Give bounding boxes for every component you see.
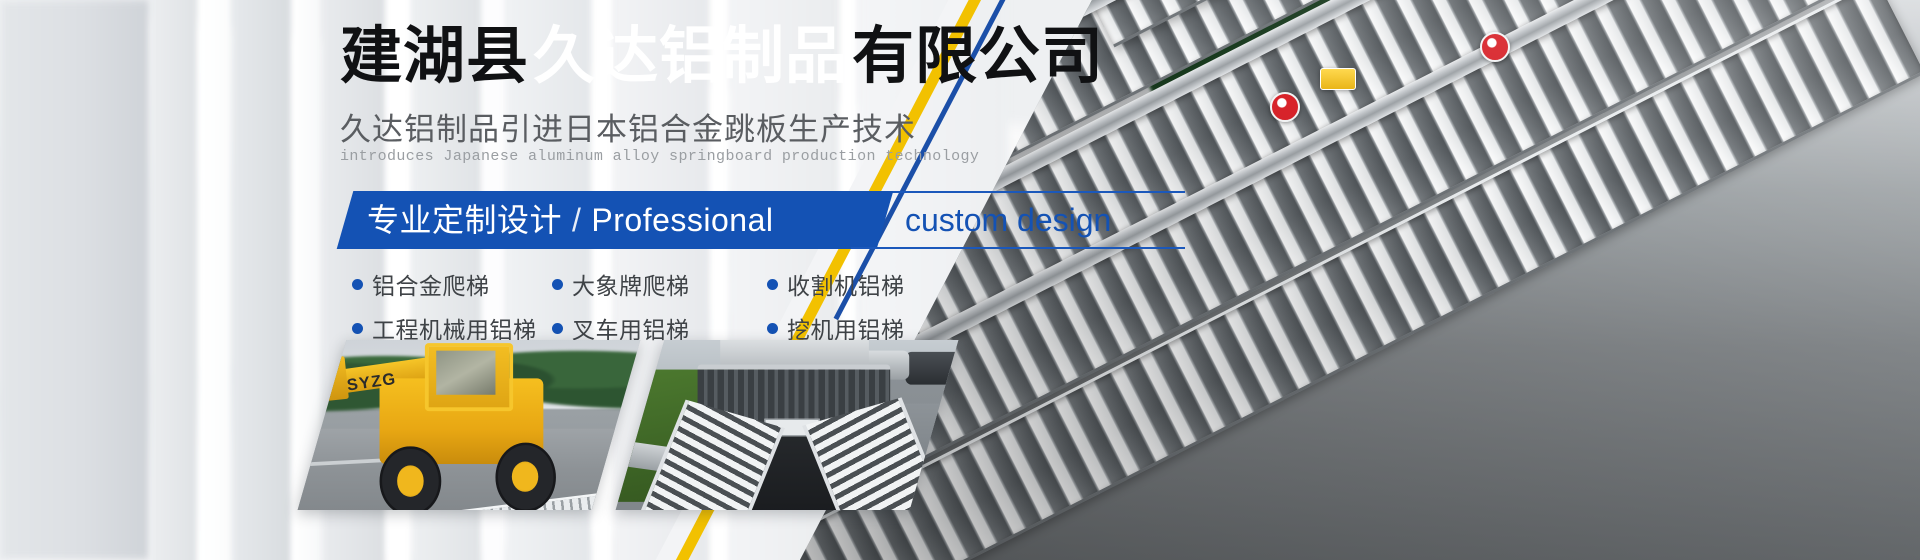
bullet-dot-icon [767,279,778,290]
bullet-dot-icon [552,279,563,290]
bullet-dot-icon [352,323,363,334]
company-title-highlight: 久达铝制品 [529,26,852,88]
subtitle-english: introduces Japanese aluminum alloy sprin… [340,148,979,165]
product-photo-strip: SYZG [322,340,1002,510]
product-photo-truck-ramps[interactable] [616,340,959,510]
product-list: 铝合金爬梯 大象牌爬梯 收割机铝梯 工程机械用铝梯 叉车用铝 [352,262,992,350]
warning-sticker-icon [1270,92,1300,122]
subtitle-chinese: 久达铝制品引进日本铝合金跳板生产技术 [340,104,916,149]
loader-fork-attachment [300,356,349,403]
bullet-dot-icon [352,279,363,290]
company-hero-banner: 建湖县久达铝制品有限公司 久达铝制品引进日本铝合金跳板生产技术 introduc… [0,0,1920,560]
list-item-label: 铝合金爬梯 [372,267,490,301]
caution-label-icon [1320,68,1356,90]
loader-cab-glass [436,350,495,395]
tagline-rule-bottom [851,247,1185,249]
tagline-separator: / [572,202,581,238]
company-title-suffix: 有限公司 [852,22,1104,91]
bullet-dot-icon [552,323,563,334]
tagline-rule-top [885,191,1185,193]
product-photo-loader[interactable]: SYZG [298,340,641,510]
company-title-prefix: 建湖县 [340,22,529,91]
list-item-label: 大象牌爬梯 [572,267,690,301]
banner-text-content: 建湖县久达铝制品有限公司 久达铝制品引进日本铝合金跳板生产技术 introduc… [0,0,1100,560]
list-item[interactable]: 大象牌爬梯 [552,267,767,301]
bullet-dot-icon [767,323,778,334]
product-photo-truck-inner [616,340,959,510]
photo-parked-car [906,352,959,384]
company-title: 建湖县久达铝制品有限公司 [340,26,1104,88]
tagline-en-white: Professional [591,202,773,238]
list-item[interactable]: 铝合金爬梯 [352,267,552,301]
list-item[interactable]: 收割机铝梯 [767,267,967,301]
tagline-banner: 专业定制设计/Professional custom design [345,191,1045,249]
tagline-en-blue: custom design [905,200,1111,240]
warning-sticker-icon [1480,32,1510,62]
product-list-row: 铝合金爬梯 大象牌爬梯 收割机铝梯 [352,262,992,306]
loader-wheel [380,446,441,510]
tagline-primary-text: 专业定制设计/Professional [367,200,774,240]
list-item-label: 收割机铝梯 [787,267,905,301]
loader-wheel [495,442,556,510]
product-photo-loader-inner: SYZG [298,340,641,510]
tagline-cn: 专业定制设计 [367,202,562,238]
